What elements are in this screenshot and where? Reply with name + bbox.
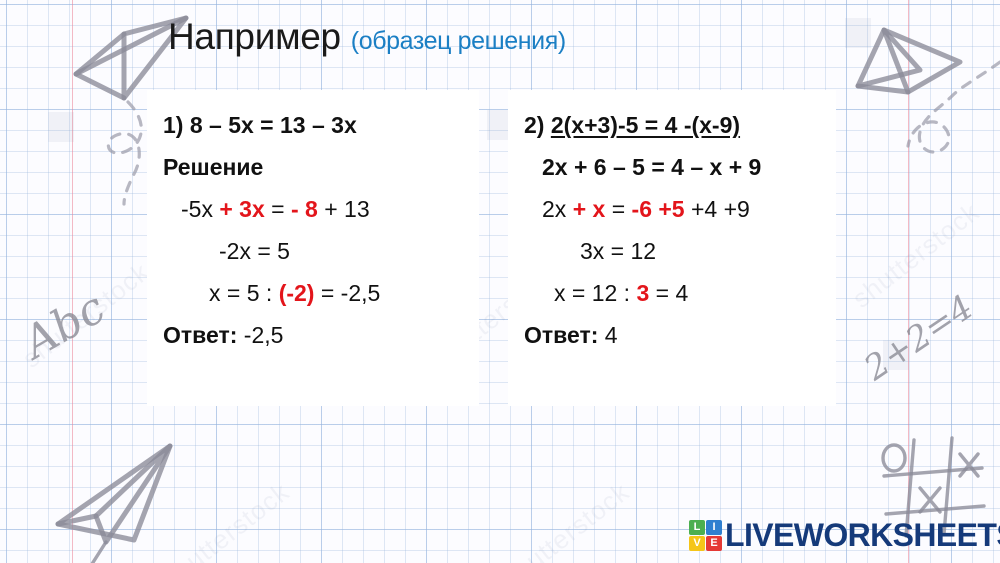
step-term: x = 5 : bbox=[209, 280, 279, 306]
solution-step-1-1: -5x + 3x = - 8 + 13 bbox=[163, 188, 463, 230]
step-term: +4 +9 bbox=[685, 196, 750, 222]
watermark-block bbox=[48, 112, 74, 142]
solution-heading-1: Решение bbox=[163, 146, 463, 188]
solution-step-1-2: -2x = 5 bbox=[163, 230, 463, 272]
watermark-text: shutterstock bbox=[847, 196, 986, 314]
answer-row-1: Ответ: -2,5 bbox=[163, 314, 463, 356]
problem-number: 2) bbox=[524, 112, 551, 138]
solution-step-2-4: x = 12 : 3 = 4 bbox=[524, 272, 820, 314]
problem-statement-2: 2) 2(x+3)-5 = 4 -(x-9) bbox=[524, 104, 820, 146]
step-term: = bbox=[265, 196, 291, 222]
logo-cell-v: V bbox=[689, 536, 705, 551]
step-term-highlight: (-2) bbox=[279, 280, 315, 306]
watermark-text: shutterstock bbox=[17, 256, 156, 374]
step-term-highlight: 3 bbox=[636, 280, 649, 306]
paper-plane-icon bbox=[848, 16, 1000, 176]
step-term: = bbox=[605, 196, 631, 222]
page-title-subtitle: (образец решения) bbox=[351, 27, 566, 56]
problem-expression: 2(x+3)-5 = 4 -(x-9) bbox=[551, 112, 740, 138]
solution-card-1: 1) 8 – 5x = 13 – 3x Решение -5x + 3x = -… bbox=[147, 90, 479, 406]
problem-statement-1: 1) 8 – 5x = 13 – 3x bbox=[163, 104, 463, 146]
liveworksheets-mark-icon: L I V E bbox=[689, 520, 722, 551]
step-term: -5x bbox=[181, 196, 219, 222]
watermark-text: shutterstock bbox=[157, 476, 296, 563]
margin-rule-left bbox=[72, 0, 73, 563]
answer-label: Ответ: bbox=[163, 322, 237, 348]
step-term: x = 12 : bbox=[554, 280, 636, 306]
answer-row-2: Ответ: 4 bbox=[524, 314, 820, 356]
answer-label: Ответ: bbox=[524, 322, 598, 348]
watermark-block bbox=[845, 18, 871, 48]
step-term: = -2,5 bbox=[314, 280, 380, 306]
answer-value: 4 bbox=[598, 322, 617, 348]
page-title: Например (образец решения) bbox=[168, 16, 566, 58]
step-term-highlight: + x bbox=[573, 196, 606, 222]
step-term: + 13 bbox=[318, 196, 370, 222]
step-term-highlight: -6 +5 bbox=[632, 196, 685, 222]
logo-cell-e: E bbox=[706, 536, 722, 551]
logo-cell-l: L bbox=[689, 520, 705, 535]
liveworksheets-wordmark: LIVEWORKSHEETS bbox=[725, 519, 1000, 551]
step-term: = 4 bbox=[649, 280, 688, 306]
paper-plane-icon bbox=[48, 424, 228, 563]
step-term: 2x bbox=[542, 196, 573, 222]
page-title-main: Например bbox=[168, 16, 341, 58]
watermark-block bbox=[883, 340, 909, 370]
solution-step-2-3: 3x = 12 bbox=[524, 230, 820, 272]
logo-cell-i: I bbox=[706, 520, 722, 535]
watermark-text: shutterstock bbox=[497, 476, 636, 563]
handwriting-sum: 2+2=4 bbox=[857, 287, 980, 388]
solution-step-2-2: 2x + x = -6 +5 +4 +9 bbox=[524, 188, 820, 230]
solution-step-2-1: 2x + 6 – 5 = 4 – x + 9 bbox=[524, 146, 820, 188]
liveworksheets-logo: L I V E LIVEWORKSHEETS bbox=[689, 519, 1000, 551]
worksheet-page: shutterstock shutterstock shutterstock s… bbox=[0, 0, 1000, 563]
step-term-highlight: + 3x bbox=[219, 196, 264, 222]
solution-step-1-3: x = 5 : (-2) = -2,5 bbox=[163, 272, 463, 314]
answer-value: -2,5 bbox=[237, 322, 283, 348]
margin-rule-right bbox=[908, 0, 909, 563]
solution-card-2: 2) 2(x+3)-5 = 4 -(x-9) 2x + 6 – 5 = 4 – … bbox=[508, 90, 836, 406]
handwriting-abc: Abc bbox=[15, 282, 114, 368]
step-term-highlight: - 8 bbox=[291, 196, 318, 222]
